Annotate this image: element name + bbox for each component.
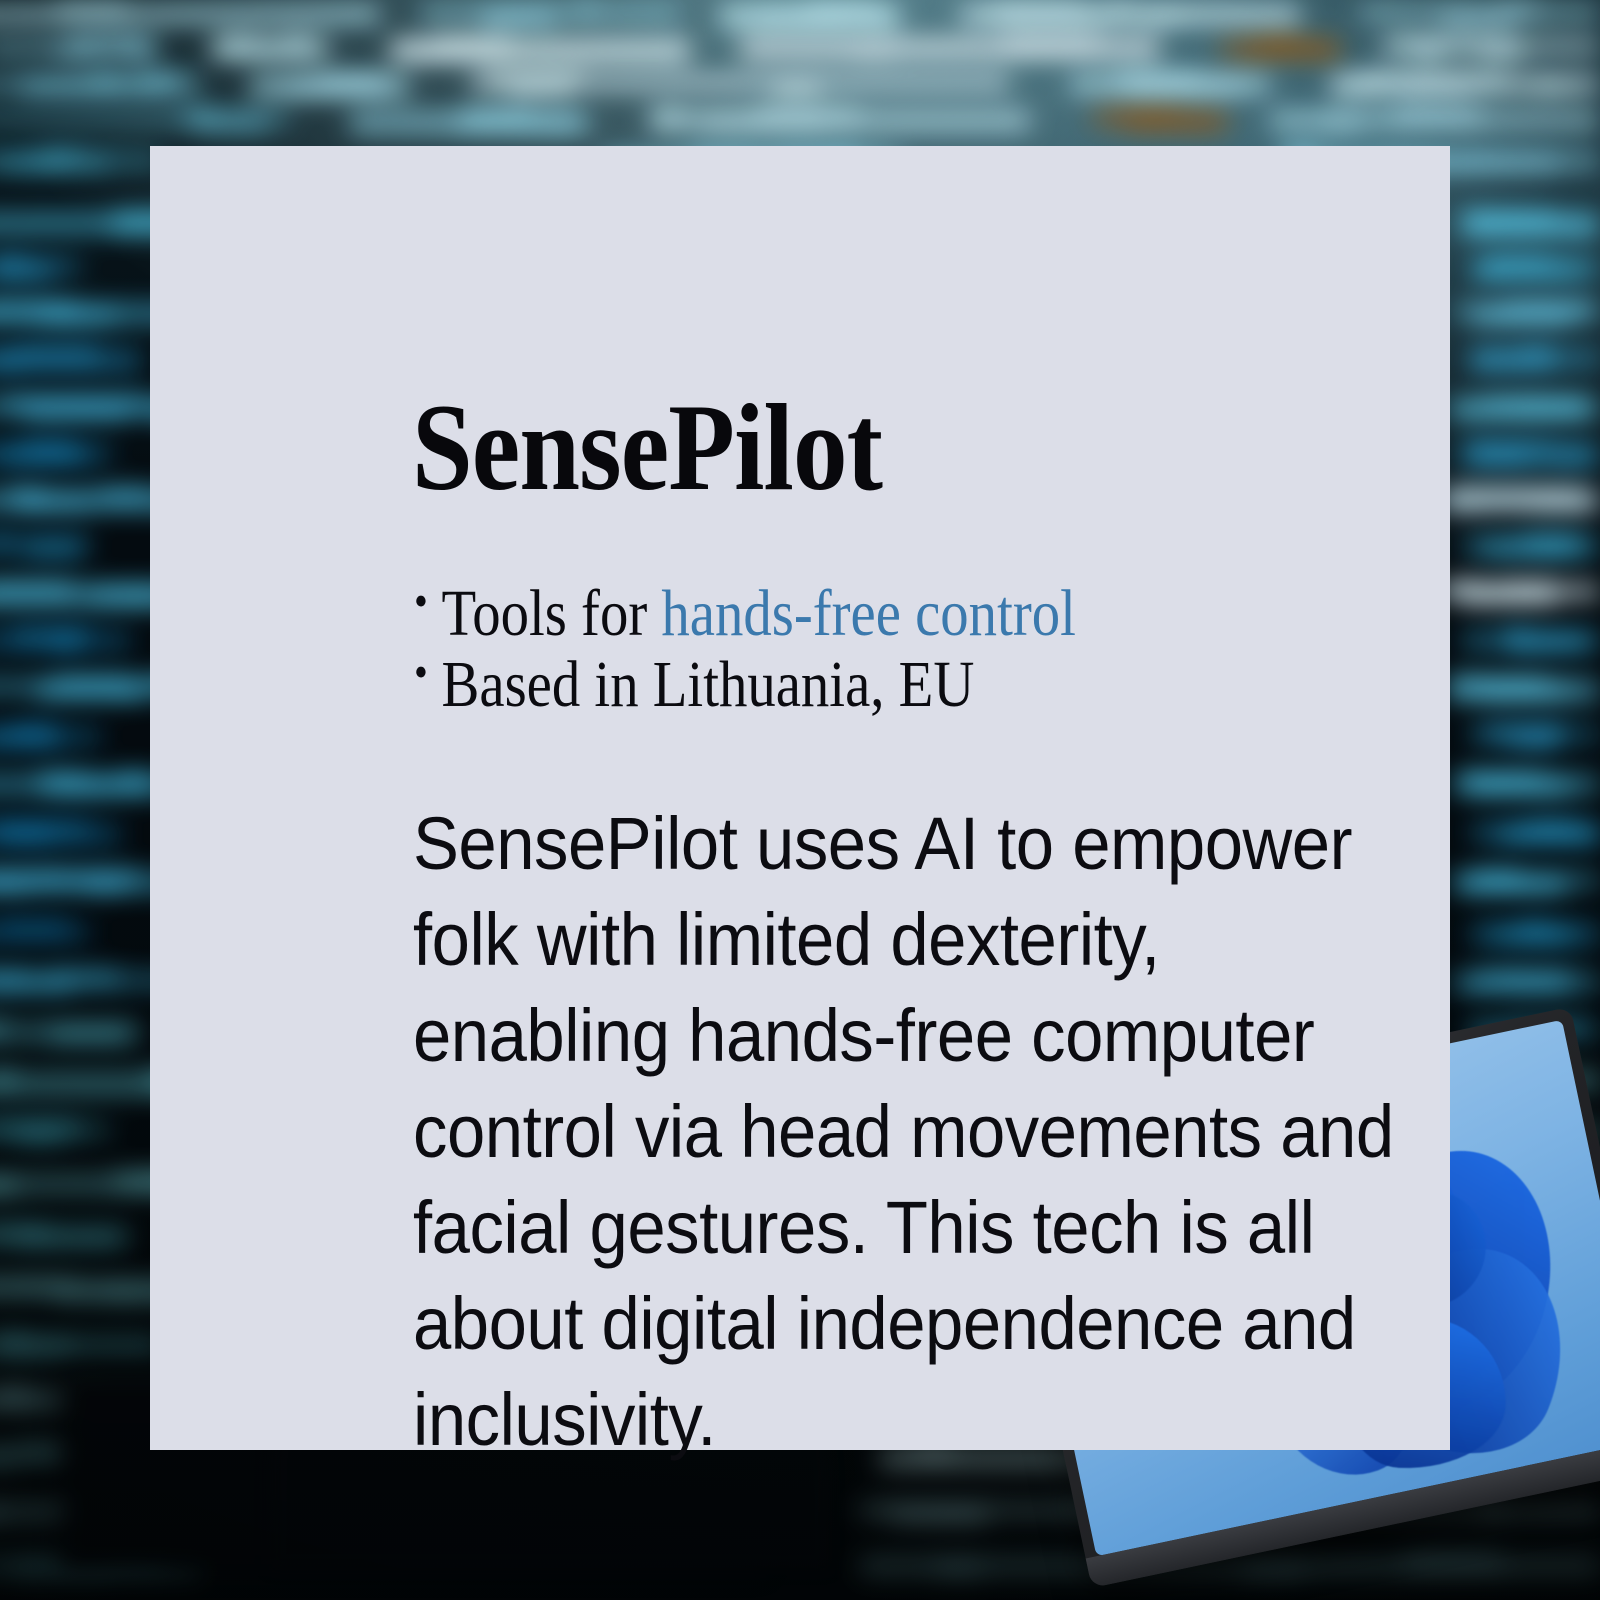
list-item: Based in Lithuania, EU xyxy=(414,649,1076,720)
content-card: SensePilot Tools for hands-free control … xyxy=(150,146,1450,1450)
poster-canvas: SensePilot Tools for hands-free control … xyxy=(0,0,1600,1600)
list-item: Tools for hands-free control xyxy=(414,578,1076,649)
feature-bullet-list: Tools for hands-free control Based in Li… xyxy=(414,578,1184,721)
description-paragraph: SensePilot uses AI to empower folk with … xyxy=(413,796,1399,1468)
bullet-text-plain: Based in Lithuania, EU xyxy=(442,648,975,721)
bullet-text-plain: Tools for xyxy=(442,577,662,650)
page-title: SensePilot xyxy=(412,386,882,510)
bullet-text-accent: hands-free control xyxy=(661,577,1075,650)
